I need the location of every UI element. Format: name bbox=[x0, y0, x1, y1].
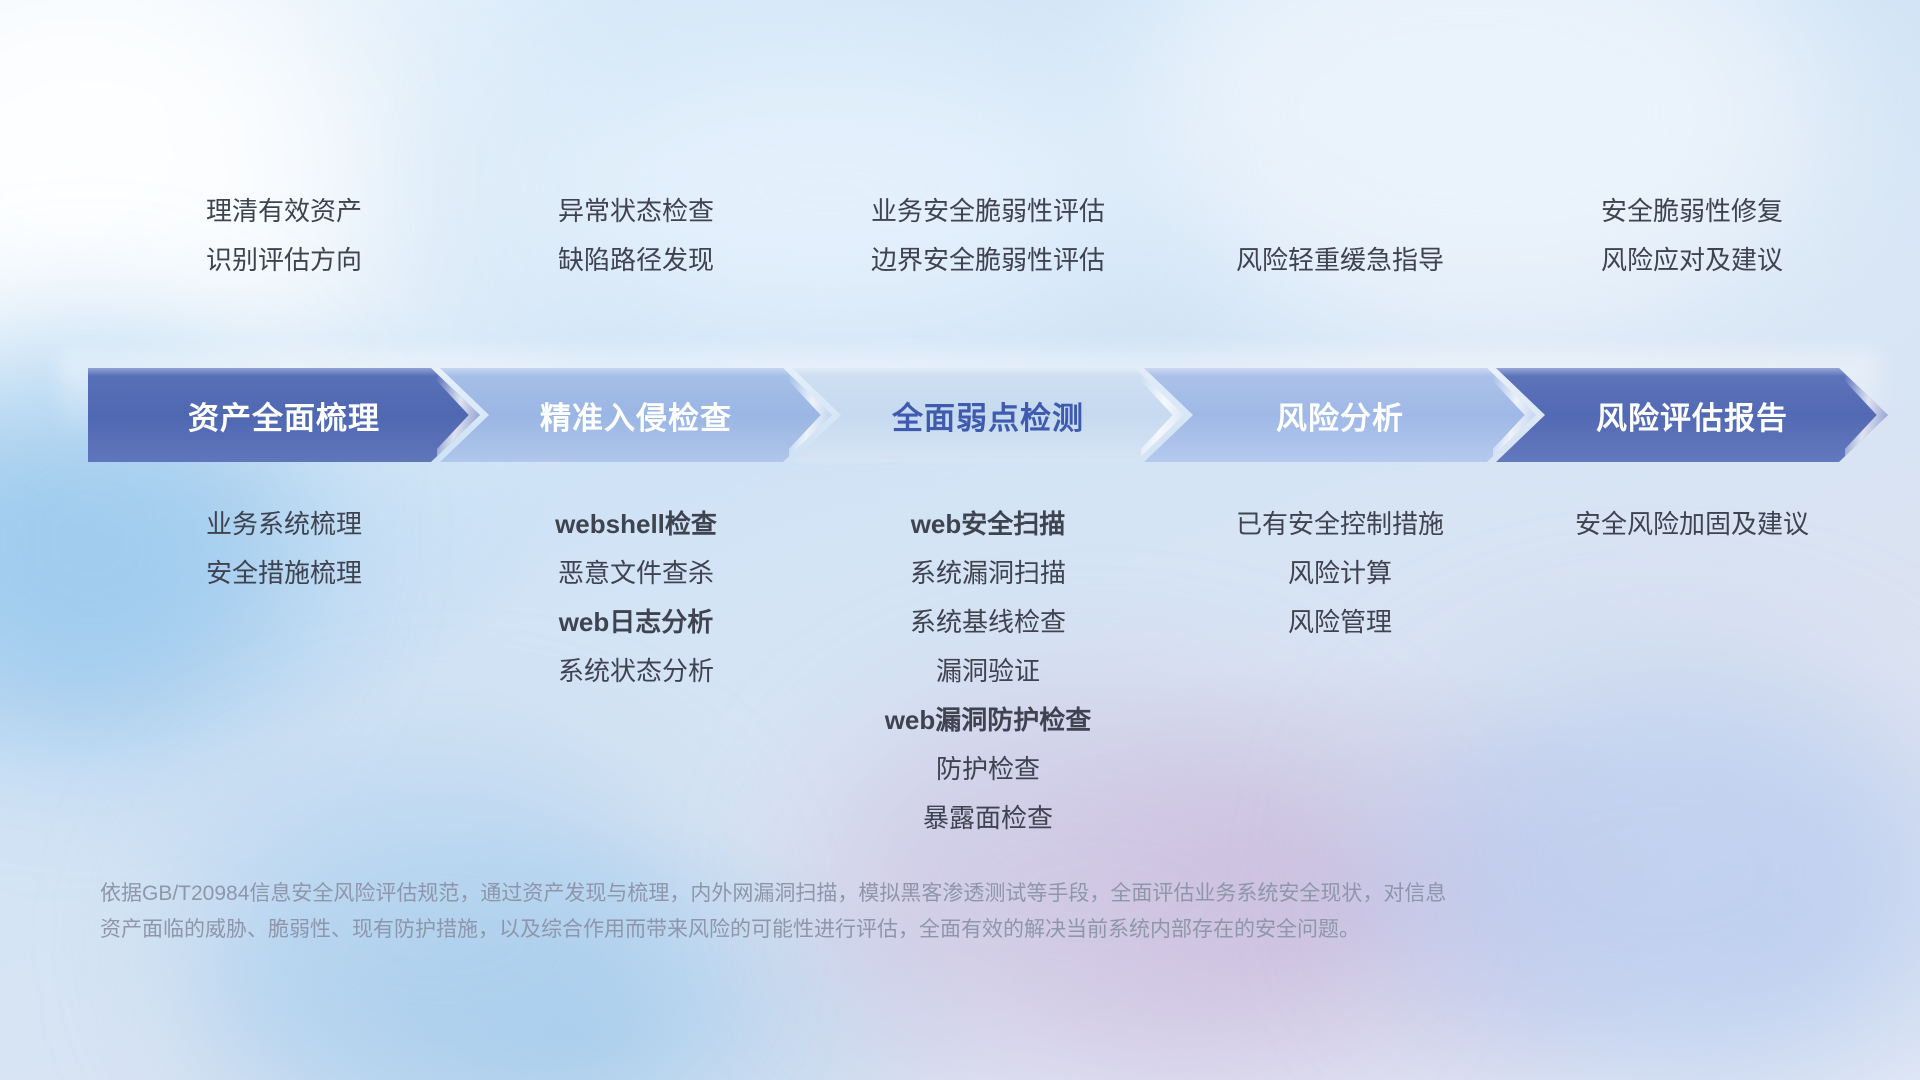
stage-top-labels-row: 理清有效资产识别评估方向异常状态检查缺陷路径发现业务安全脆弱性评估边界安全脆弱性… bbox=[0, 185, 1920, 285]
detail-list-item: 暴露面检查 bbox=[728, 794, 1248, 843]
detail-list-item: 风险计算 bbox=[1080, 549, 1600, 598]
footer-description: 依据GB/T20984信息安全风险评估规范，通过资产发现与梳理，内外网漏洞扫描，… bbox=[100, 876, 1700, 948]
footer-line-1: 依据GB/T20984信息安全风险评估规范，通过资产发现与梳理，内外网漏洞扫描，… bbox=[100, 876, 1700, 912]
stage-top-labels-risk-report: 安全脆弱性修复风险应对及建议 bbox=[1432, 187, 1920, 285]
detail-list-item: 风险管理 bbox=[1080, 598, 1600, 647]
footer-line-2: 资产面临的威胁、脆弱性、现有防护措施，以及综合作用而带来风险的可能性进行评估，全… bbox=[100, 912, 1700, 948]
process-stage-title: 精准入侵检查 bbox=[540, 393, 732, 438]
process-stage-title: 风险评估报告 bbox=[1596, 393, 1788, 438]
process-stage-title: 全面弱点检测 bbox=[892, 393, 1084, 438]
chevron-arrow-icon bbox=[1845, 368, 1889, 462]
process-stage-intrusion-check[interactable]: 精准入侵检查 bbox=[440, 368, 832, 462]
process-stage-weakness-detection[interactable]: 全面弱点检测 bbox=[792, 368, 1184, 462]
top-label-item: 风险应对及建议 bbox=[1432, 236, 1920, 285]
background-glow-6 bbox=[1120, 0, 1820, 340]
process-chevron-band: 资产全面梳理精准入侵检查全面弱点检测风险分析风险评估报告 bbox=[88, 368, 1848, 462]
detail-list-item: 安全风险加固及建议 bbox=[1432, 500, 1920, 549]
stage-detail-list-risk-report: 安全风险加固及建议 bbox=[1432, 500, 1920, 549]
process-stage-asset-inventory[interactable]: 资产全面梳理 bbox=[88, 368, 480, 462]
process-stage-risk-analysis[interactable]: 风险分析 bbox=[1144, 368, 1536, 462]
detail-list-item: web漏洞防护检查 bbox=[728, 696, 1248, 745]
process-stage-risk-report[interactable]: 风险评估报告 bbox=[1496, 368, 1888, 462]
stage-detail-lists-row: 业务系统梳理安全措施梳理webshell检查恶意文件查杀web日志分析系统状态分… bbox=[0, 500, 1920, 860]
process-stage-title: 风险分析 bbox=[1276, 393, 1404, 438]
process-stage-title: 资产全面梳理 bbox=[188, 393, 380, 438]
detail-list-item: 防护检查 bbox=[728, 745, 1248, 794]
top-label-item: 业务安全脆弱性评估 bbox=[728, 187, 1248, 236]
slide-canvas: 理清有效资产识别评估方向异常状态检查缺陷路径发现业务安全脆弱性评估边界安全脆弱性… bbox=[0, 0, 1920, 1080]
detail-list-item: 漏洞验证 bbox=[728, 647, 1248, 696]
top-label-item: 安全脆弱性修复 bbox=[1432, 187, 1920, 236]
